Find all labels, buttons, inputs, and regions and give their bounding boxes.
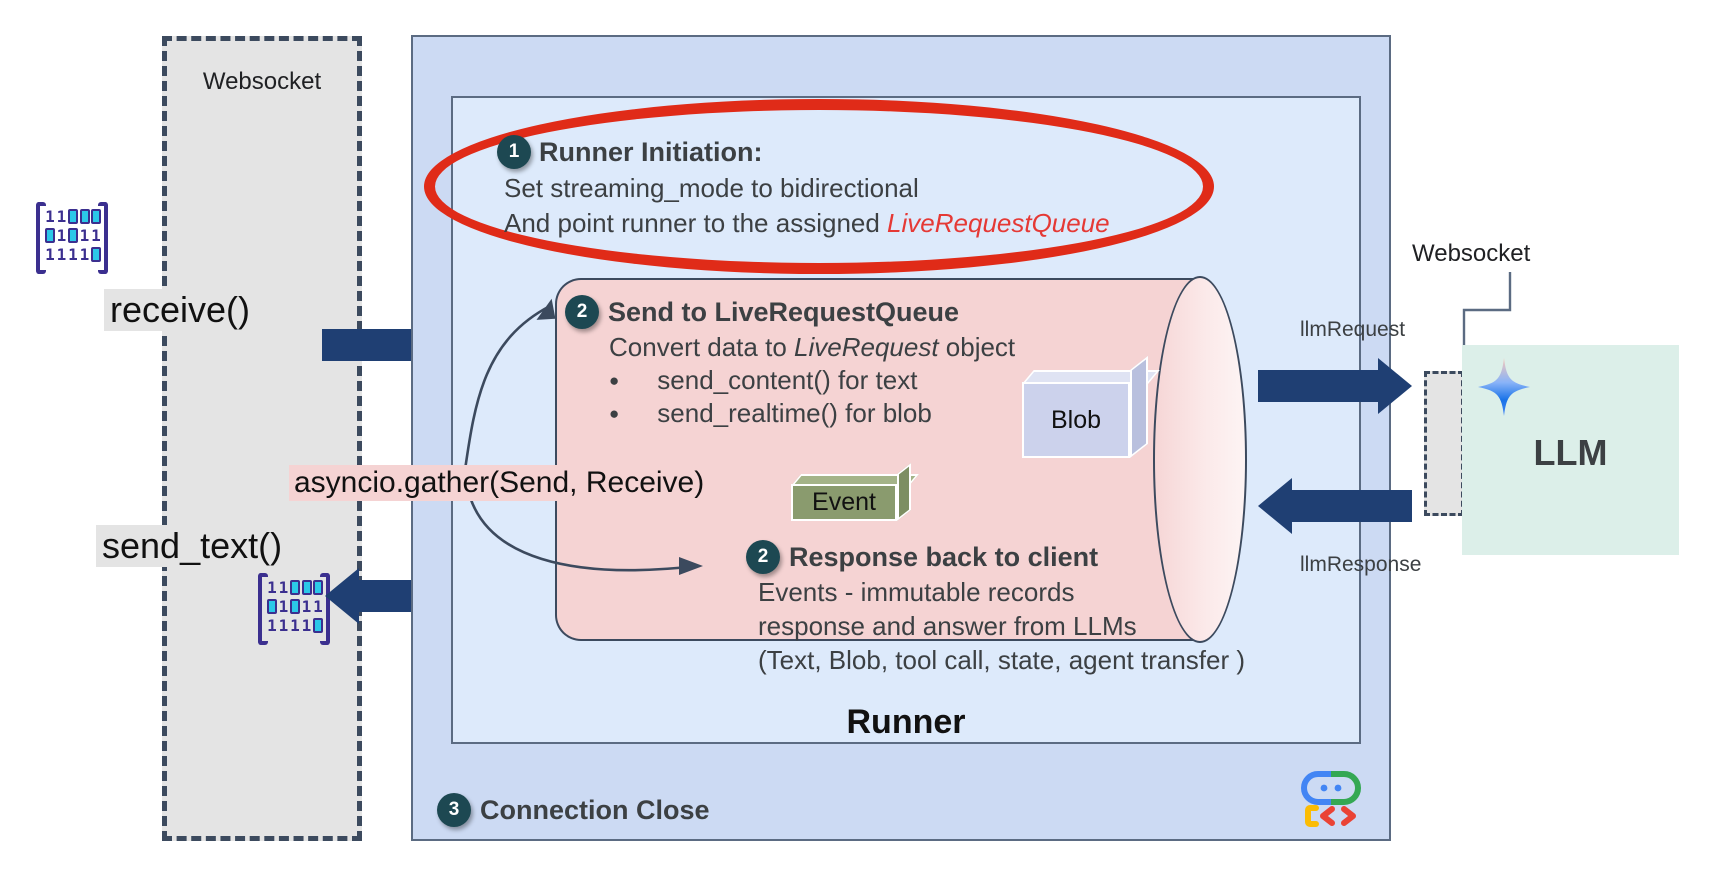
step-2b-line-3: (Text, Blob, tool call, state, agent tra… <box>758 645 1245 676</box>
arrow-llm-to-runner <box>1258 478 1414 534</box>
step-2b-line-2: response and answer from LLMs <box>758 611 1137 642</box>
llm-websocket-strip <box>1424 371 1464 516</box>
step-1-badge: 1 <box>497 135 531 169</box>
step-2-subtitle-suffix: object <box>939 332 1016 362</box>
gemini-sparkle-icon <box>1478 358 1530 416</box>
asyncio-gather-label: asyncio.gather(Send, Receive) <box>289 465 709 501</box>
step-3-connection-close: 3 Connection Close <box>437 793 710 827</box>
blob-box: Blob <box>1022 382 1130 458</box>
receive-method-label: receive() <box>104 289 256 331</box>
list-item: send_realtime() for blob <box>565 398 1015 429</box>
step-2b-title: Response back to client <box>789 542 1098 573</box>
llm-label: LLM <box>1462 432 1679 474</box>
step-1-title: Runner Initiation: <box>539 137 762 168</box>
live-request-queue-cylinder-cap <box>1153 276 1247 643</box>
step-2-subtitle-italic: LiveRequest <box>794 332 939 362</box>
step-1-line-2: And point runner to the assigned LiveReq… <box>504 208 1110 239</box>
step-1-runner-initiation: 1 Runner Initiation: Set streaming_mode … <box>497 135 1110 239</box>
step-1-emphasis: LiveRequestQueue <box>887 208 1110 238</box>
step-1-line-1: Set streaming_mode to bidirectional <box>504 173 1110 204</box>
binary-data-icon: 11 111 1111 <box>258 573 330 645</box>
adk-logo-icon <box>1300 768 1362 830</box>
step-2-bullet-list: send_content() for text send_realtime() … <box>565 365 1015 429</box>
step-3-badge: 3 <box>437 793 471 827</box>
step-2-subtitle-prefix: Convert data to <box>609 332 794 362</box>
binary-data-icon: 11 111 1111 <box>36 202 108 274</box>
client-websocket-box <box>162 36 362 841</box>
step-2-response-back-to-client: 2 Response back to client Events - immut… <box>746 540 1137 642</box>
blob-box-side-face <box>1130 356 1148 458</box>
step-2-title: Send to LiveRequestQueue <box>608 297 959 328</box>
llm-request-label: llmRequest <box>1300 318 1405 342</box>
llm-response-label: llmResponse <box>1300 553 1421 577</box>
event-box: Event <box>791 484 897 521</box>
step-2-send-to-queue: 2 Send to LiveRequestQueue Convert data … <box>565 295 1015 429</box>
runner-title: Runner <box>451 703 1361 742</box>
arrow-runner-to-llm <box>1258 358 1414 414</box>
step-2b-badge: 2 <box>746 540 780 574</box>
step-2-badge: 2 <box>565 295 599 329</box>
client-websocket-label: Websocket <box>162 68 362 96</box>
step-1-line-2-text: And point runner to the assigned <box>504 208 887 238</box>
step-3-title: Connection Close <box>480 795 710 826</box>
step-2-subtitle: Convert data to LiveRequest object <box>609 332 1015 363</box>
step-2b-line-1: Events - immutable records <box>758 577 1137 608</box>
list-item: send_content() for text <box>565 365 1015 396</box>
llm-websocket-label: Websocket <box>1412 240 1530 268</box>
send-text-method-label: send_text() <box>96 525 288 567</box>
